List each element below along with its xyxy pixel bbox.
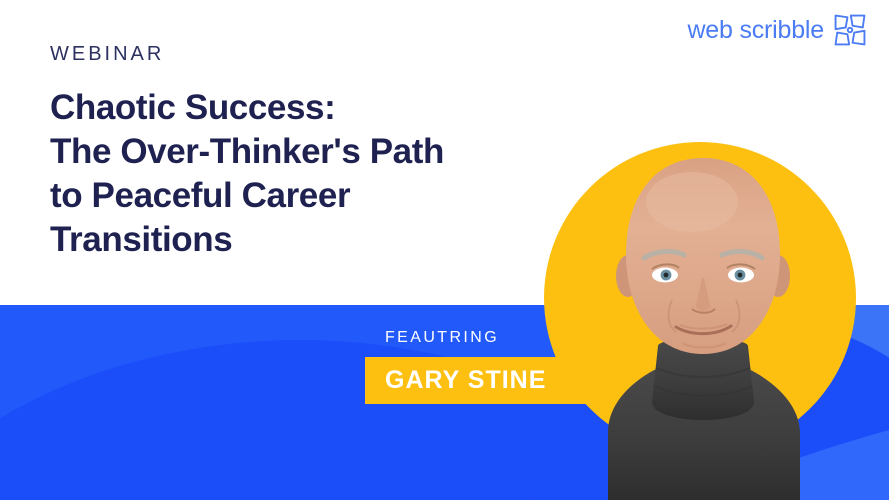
- brand-logo[interactable]: web scribble: [687, 13, 867, 47]
- kicker-label: WEBINAR: [50, 44, 570, 64]
- headline-block: WEBINAR Chaotic Success: The Over-Thinke…: [50, 44, 570, 262]
- featuring-label: FEAUTRING: [385, 330, 499, 346]
- speaker-name: GARY STINE: [385, 368, 546, 393]
- speaker-portrait: [588, 150, 818, 500]
- brand-logo-text: web scribble: [687, 18, 824, 43]
- pinwheel-square-mark-icon: [833, 13, 867, 47]
- promo-banner: web scribble WEBINAR Chaotic Success: Th…: [0, 0, 889, 500]
- speaker-portrait-illustration: [588, 150, 818, 500]
- page-title: Chaotic Success: The Over-Thinker's Path…: [50, 86, 570, 262]
